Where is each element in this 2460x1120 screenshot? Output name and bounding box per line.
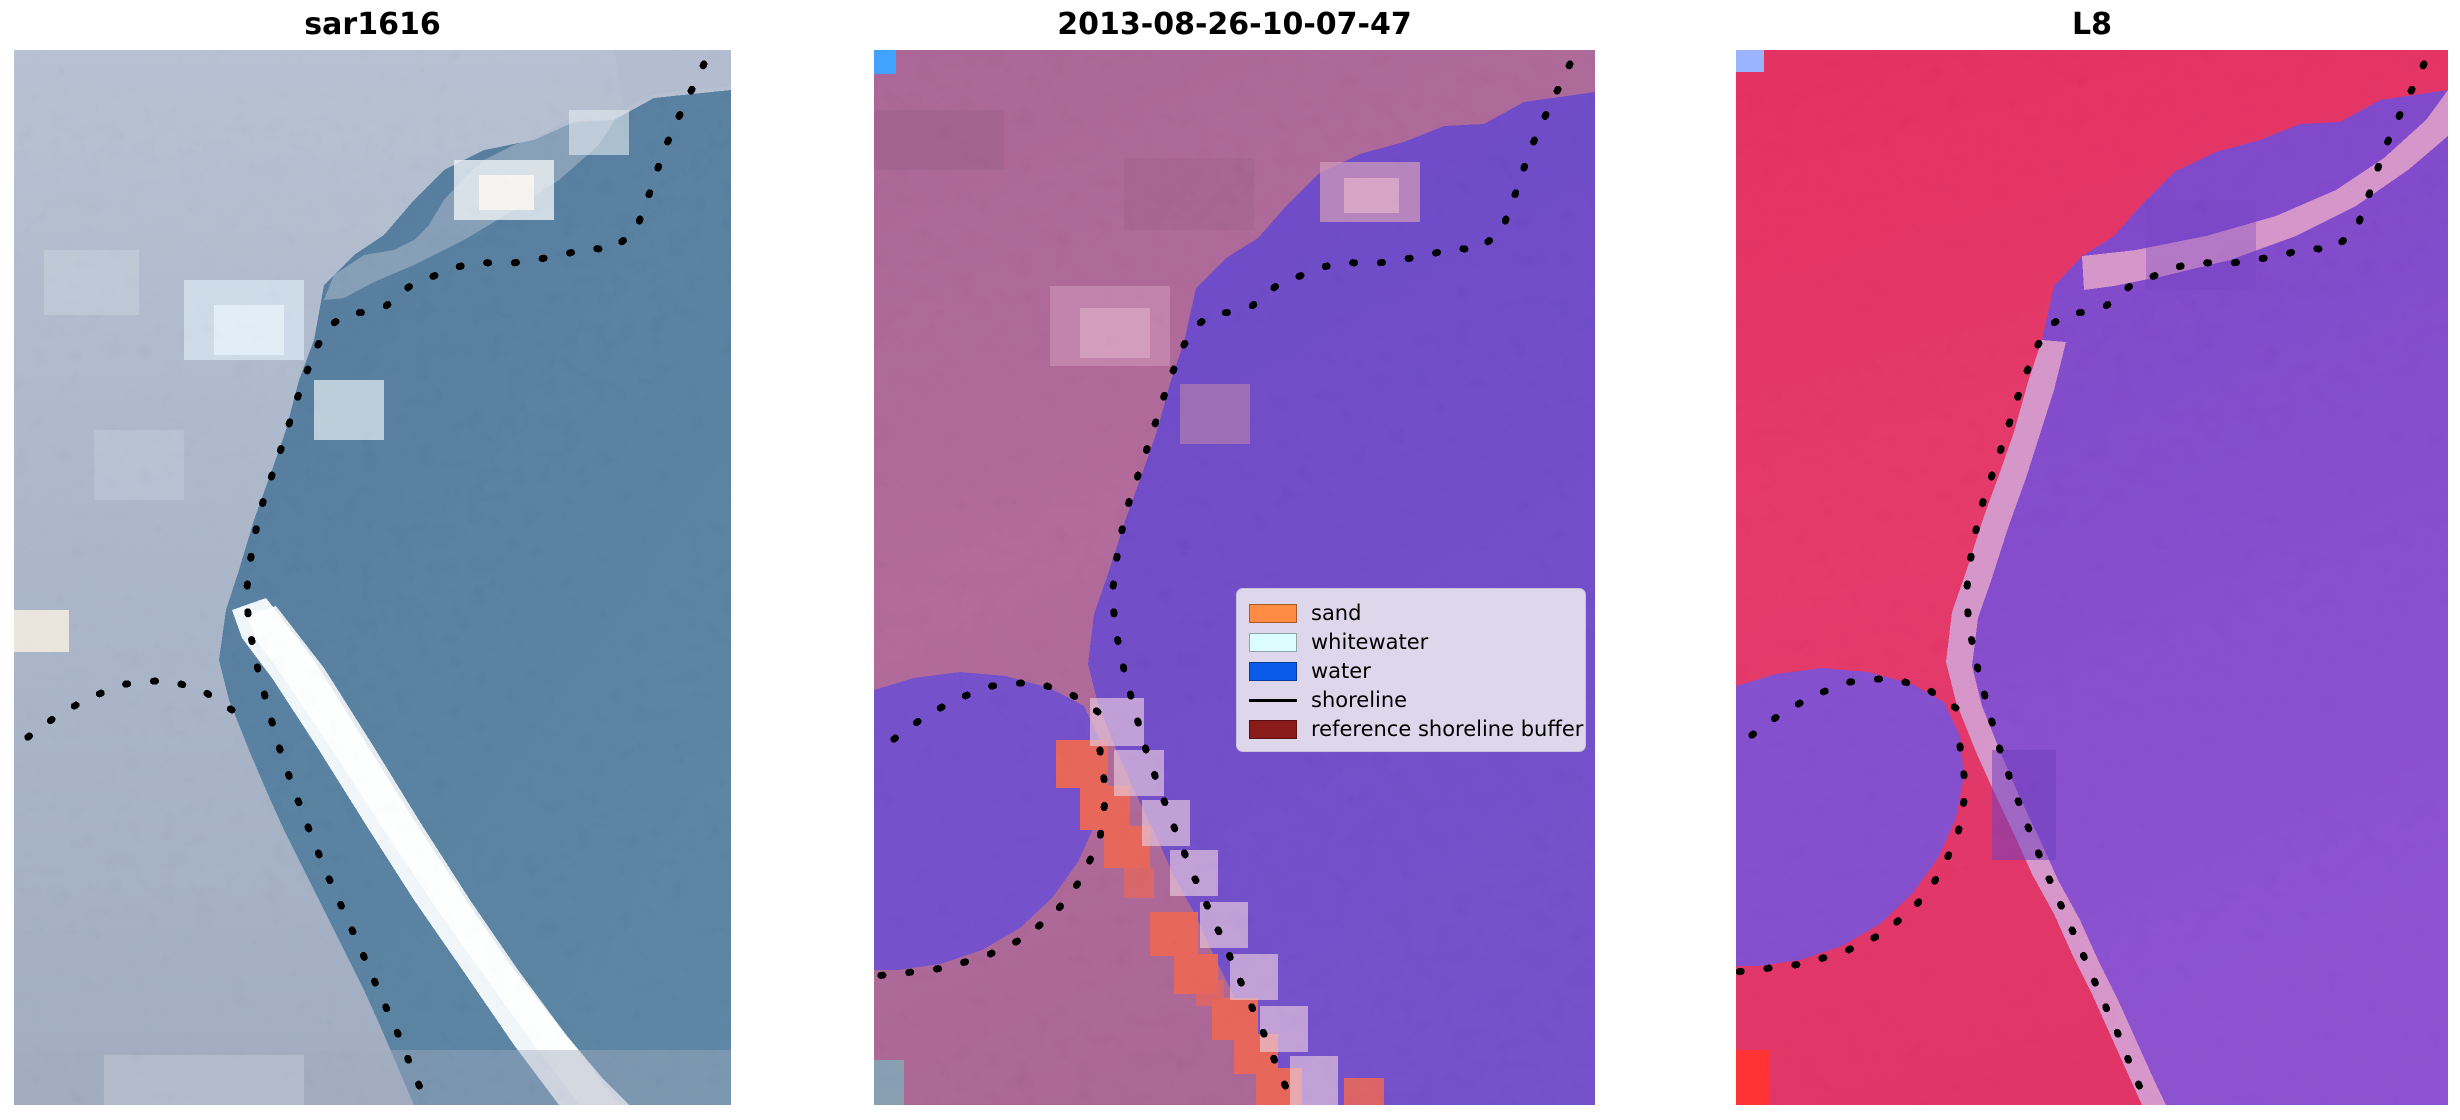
whitewater-swatch-icon	[1249, 633, 1297, 652]
panel-sar-image[interactable]	[14, 50, 731, 1105]
water-swatch-icon	[1249, 662, 1297, 681]
legend-box: sand whitewater water shoreline referenc…	[1236, 588, 1586, 752]
legend-entry-reference-shoreline-buffer: reference shoreline buffer	[1249, 715, 1573, 744]
legend-label-whitewater: whitewater	[1311, 632, 1428, 653]
legend-entry-sand: sand	[1249, 599, 1573, 628]
classification-raster	[874, 50, 1595, 1105]
panel-title-classification: 2013-08-26-10-07-47	[874, 4, 1595, 46]
figure-canvas: sar1616 2013-08-26-10-07-47 L8	[0, 0, 2460, 1120]
reference-shoreline-buffer-swatch-icon	[1249, 720, 1297, 739]
legend-label-sand: sand	[1311, 603, 1361, 624]
l8-raster	[1736, 50, 2448, 1105]
legend-entry-whitewater: whitewater	[1249, 628, 1573, 657]
legend-label-water: water	[1311, 661, 1371, 682]
panel-title-l8: L8	[1736, 4, 2448, 46]
panel-title-sar: sar1616	[14, 4, 731, 46]
sand-swatch-icon	[1249, 604, 1297, 623]
legend-entry-water: water	[1249, 657, 1573, 686]
legend-label-shoreline: shoreline	[1311, 690, 1407, 711]
shoreline-line-icon	[1249, 691, 1297, 710]
sar-raster	[14, 50, 731, 1105]
panel-l8-image[interactable]	[1736, 50, 2448, 1105]
legend-label-reference-shoreline-buffer: reference shoreline buffer	[1311, 719, 1583, 740]
panel-classification-image[interactable]	[874, 50, 1595, 1105]
legend-entry-shoreline: shoreline	[1249, 686, 1573, 715]
